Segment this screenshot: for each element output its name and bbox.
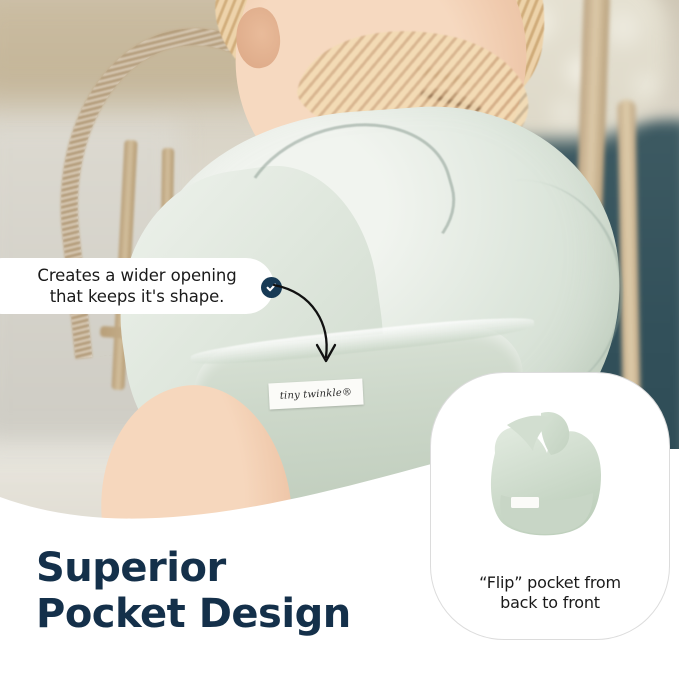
inset-caption-line-1: “Flip” pocket from	[431, 573, 669, 593]
inset-card-flip-pocket: “Flip” pocket from back to front	[430, 372, 670, 640]
inset-caption-line-2: back to front	[431, 593, 669, 613]
brand-label-text: tiny twinkle®	[280, 387, 353, 402]
headline-line-1: Superior	[36, 545, 351, 591]
flipped-bib-image	[477, 397, 627, 547]
callout-text: Creates a wider opening that keeps it's …	[37, 265, 236, 307]
curved-arrow-icon	[270, 283, 360, 378]
page-title: Superior Pocket Design	[36, 545, 351, 638]
callout-line-2: that keeps it's shape.	[37, 286, 236, 307]
brand-label-tag: tiny twinkle®	[268, 379, 363, 410]
callout-line-1: Creates a wider opening	[37, 265, 236, 286]
headline-line-2: Pocket Design	[36, 591, 351, 637]
callout-bubble: Creates a wider opening that keeps it's …	[0, 258, 274, 314]
inset-brand-label	[511, 497, 539, 508]
product-feature-graphic: tiny twinkle® Creates a wider opening th…	[0, 0, 679, 679]
inset-caption: “Flip” pocket from back to front	[431, 573, 669, 613]
